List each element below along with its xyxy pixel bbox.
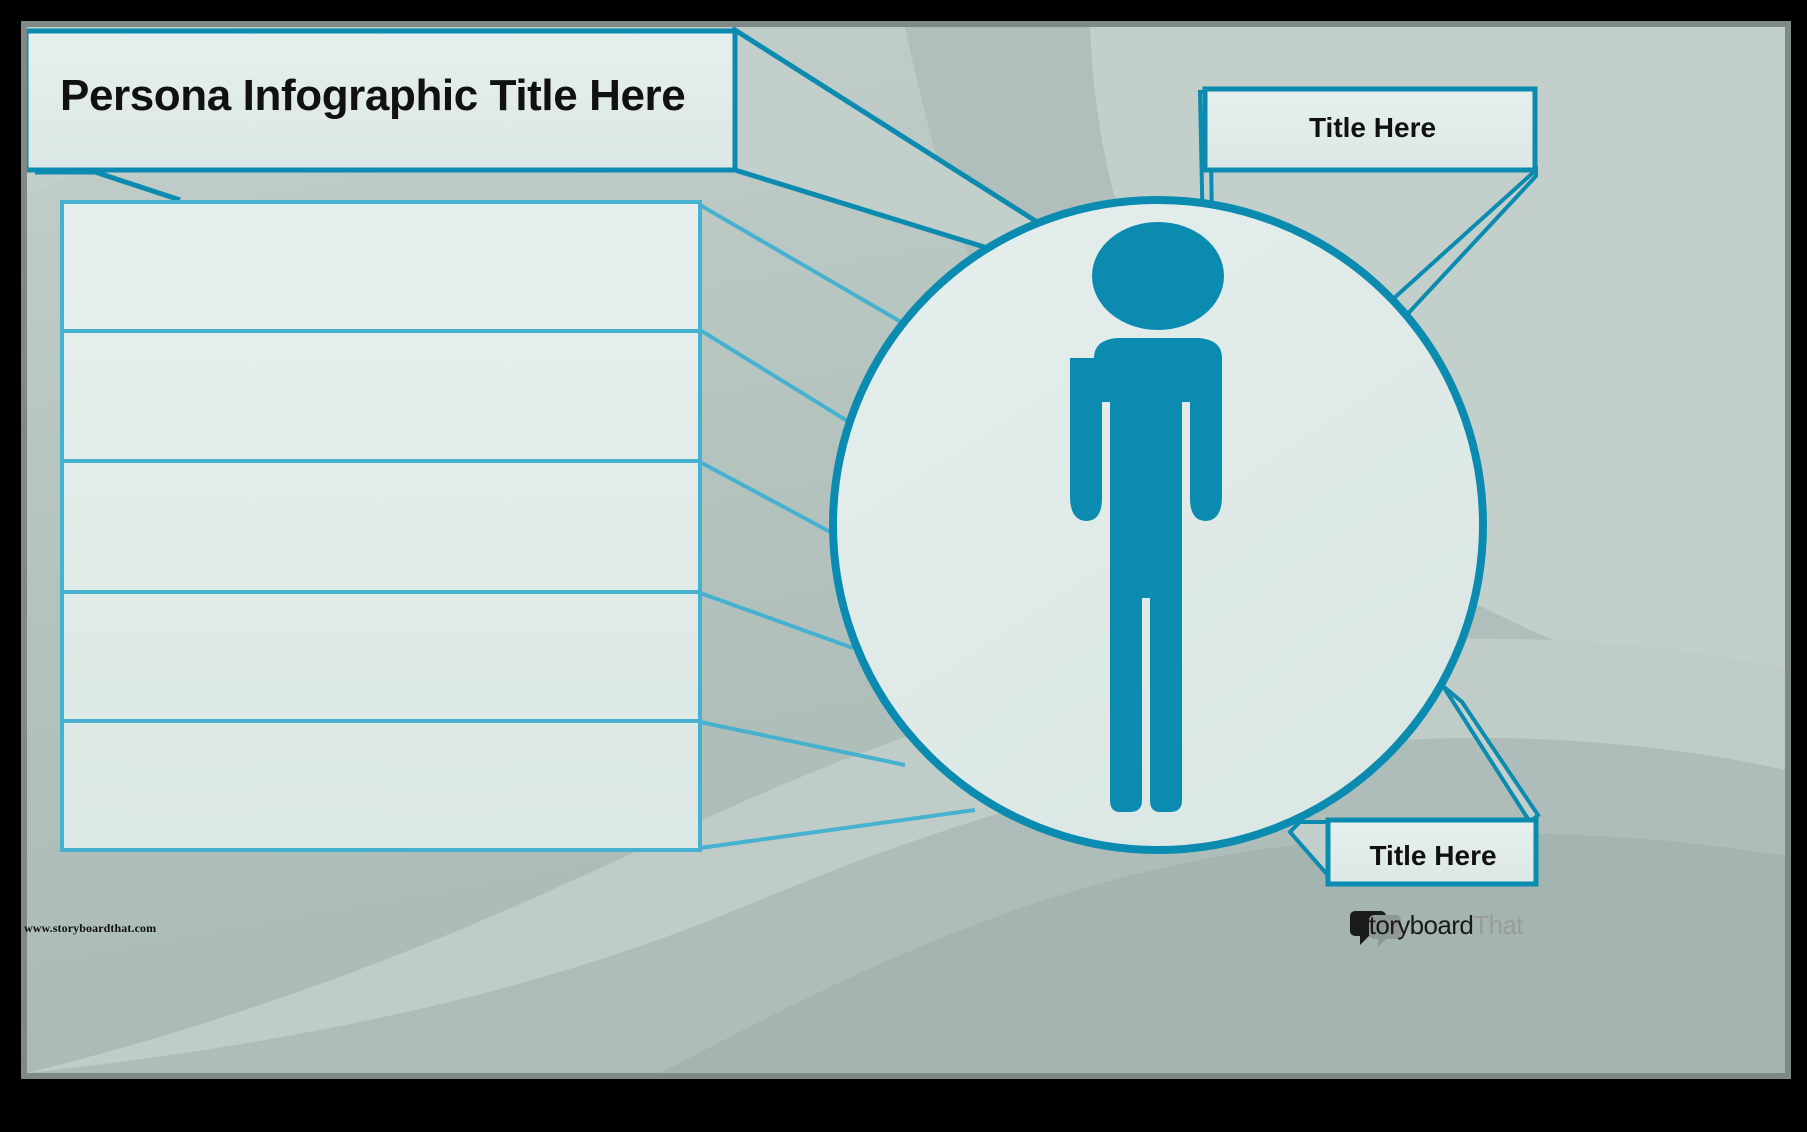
site-url-label: www.storyboardthat.com [24, 921, 156, 936]
logo-wordmark: StoryboardThat [1352, 910, 1523, 941]
callout-title-bottom-right: Title Here [1330, 834, 1536, 878]
callout-title-top-right: Title Here [1210, 106, 1535, 150]
left-list-panel[interactable] [62, 202, 700, 850]
storyboardthat-logo: StoryboardThat [1352, 908, 1523, 942]
page-title: Persona Infographic Title Here [60, 60, 720, 132]
logo-word-secondary: That [1473, 910, 1523, 940]
infographic-artwork [0, 0, 1807, 1132]
infographic-canvas: Persona Infographic Title Here Title Her… [0, 0, 1807, 1132]
logo-word-primary: Storyboard [1352, 910, 1473, 940]
